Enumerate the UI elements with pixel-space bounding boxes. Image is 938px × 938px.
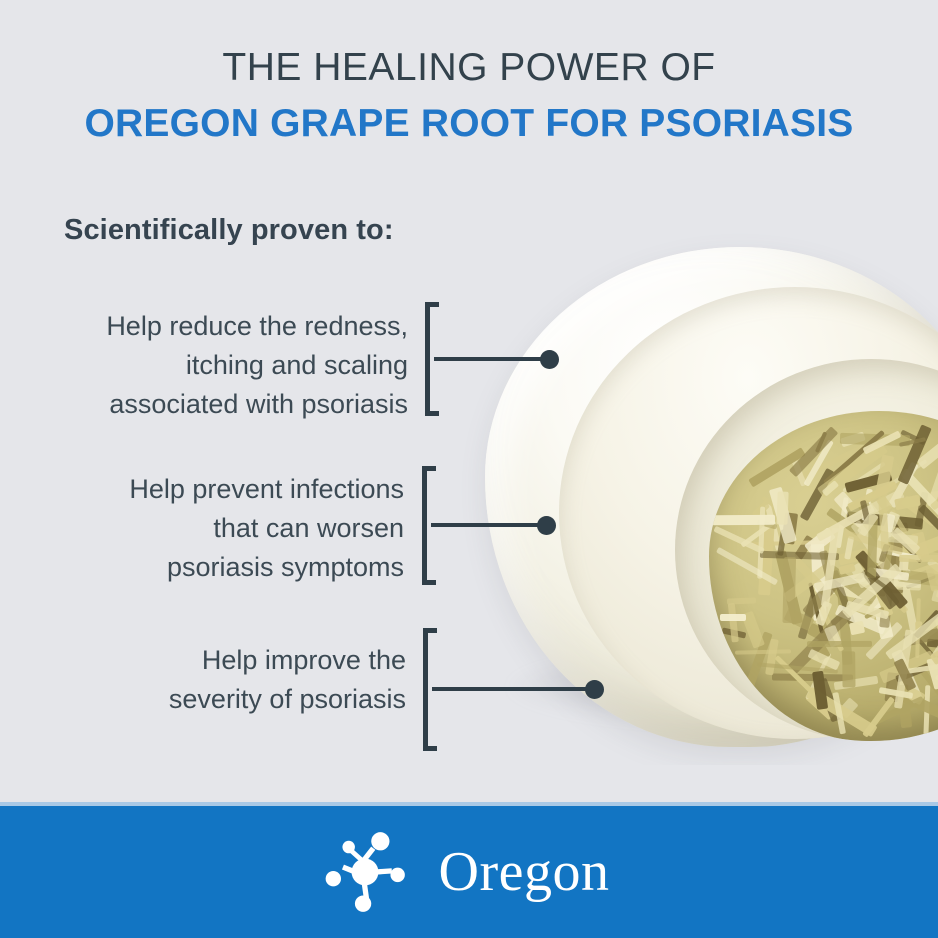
benefit-line: severity of psoriasis bbox=[10, 680, 406, 719]
title-line-2: OREGON GRAPE ROOT FOR PSORIASIS bbox=[0, 100, 938, 148]
benefit-item-improve-severity: Help improve the severity of psoriasis bbox=[10, 641, 406, 719]
leader-line-prevent-infections bbox=[431, 523, 545, 527]
title-line-1: THE HEALING POWER OF bbox=[0, 44, 938, 92]
brand-logo[interactable]: Oregon bbox=[317, 824, 610, 920]
benefit-item-reduce-redness: Help reduce the redness, itching and sca… bbox=[10, 307, 408, 424]
benefit-item-prevent-infections: Help prevent infections that can worsen … bbox=[10, 470, 404, 587]
bowl-rim bbox=[559, 287, 938, 739]
benefit-line: Help reduce the redness, bbox=[10, 307, 408, 346]
footer-bar: Oregon bbox=[0, 806, 938, 938]
product-photo bbox=[430, 225, 938, 765]
page-title: THE HEALING POWER OF OREGON GRAPE ROOT F… bbox=[0, 44, 938, 148]
infographic-poster: THE HEALING POWER OF OREGON GRAPE ROOT F… bbox=[0, 0, 938, 938]
benefit-line: Help prevent infections bbox=[10, 470, 404, 509]
leader-line-improve-severity bbox=[432, 687, 593, 691]
benefit-line: psoriasis symptoms bbox=[10, 548, 404, 587]
benefit-line: associated with psoriasis bbox=[10, 385, 408, 424]
brand-name: Oregon bbox=[439, 844, 610, 900]
leader-dot-improve-severity bbox=[585, 680, 604, 699]
bowl-interior bbox=[675, 359, 938, 741]
benefit-line: Help improve the bbox=[10, 641, 406, 680]
benefit-line: that can worsen bbox=[10, 509, 404, 548]
leader-line-reduce-redness bbox=[434, 357, 546, 361]
leader-dot-prevent-infections bbox=[537, 516, 556, 535]
dried-root-pile bbox=[709, 411, 938, 741]
benefit-line: itching and scaling bbox=[10, 346, 408, 385]
molecule-network-icon bbox=[317, 824, 413, 920]
subtitle: Scientifically proven to: bbox=[64, 214, 394, 247]
leader-dot-reduce-redness bbox=[540, 350, 559, 369]
